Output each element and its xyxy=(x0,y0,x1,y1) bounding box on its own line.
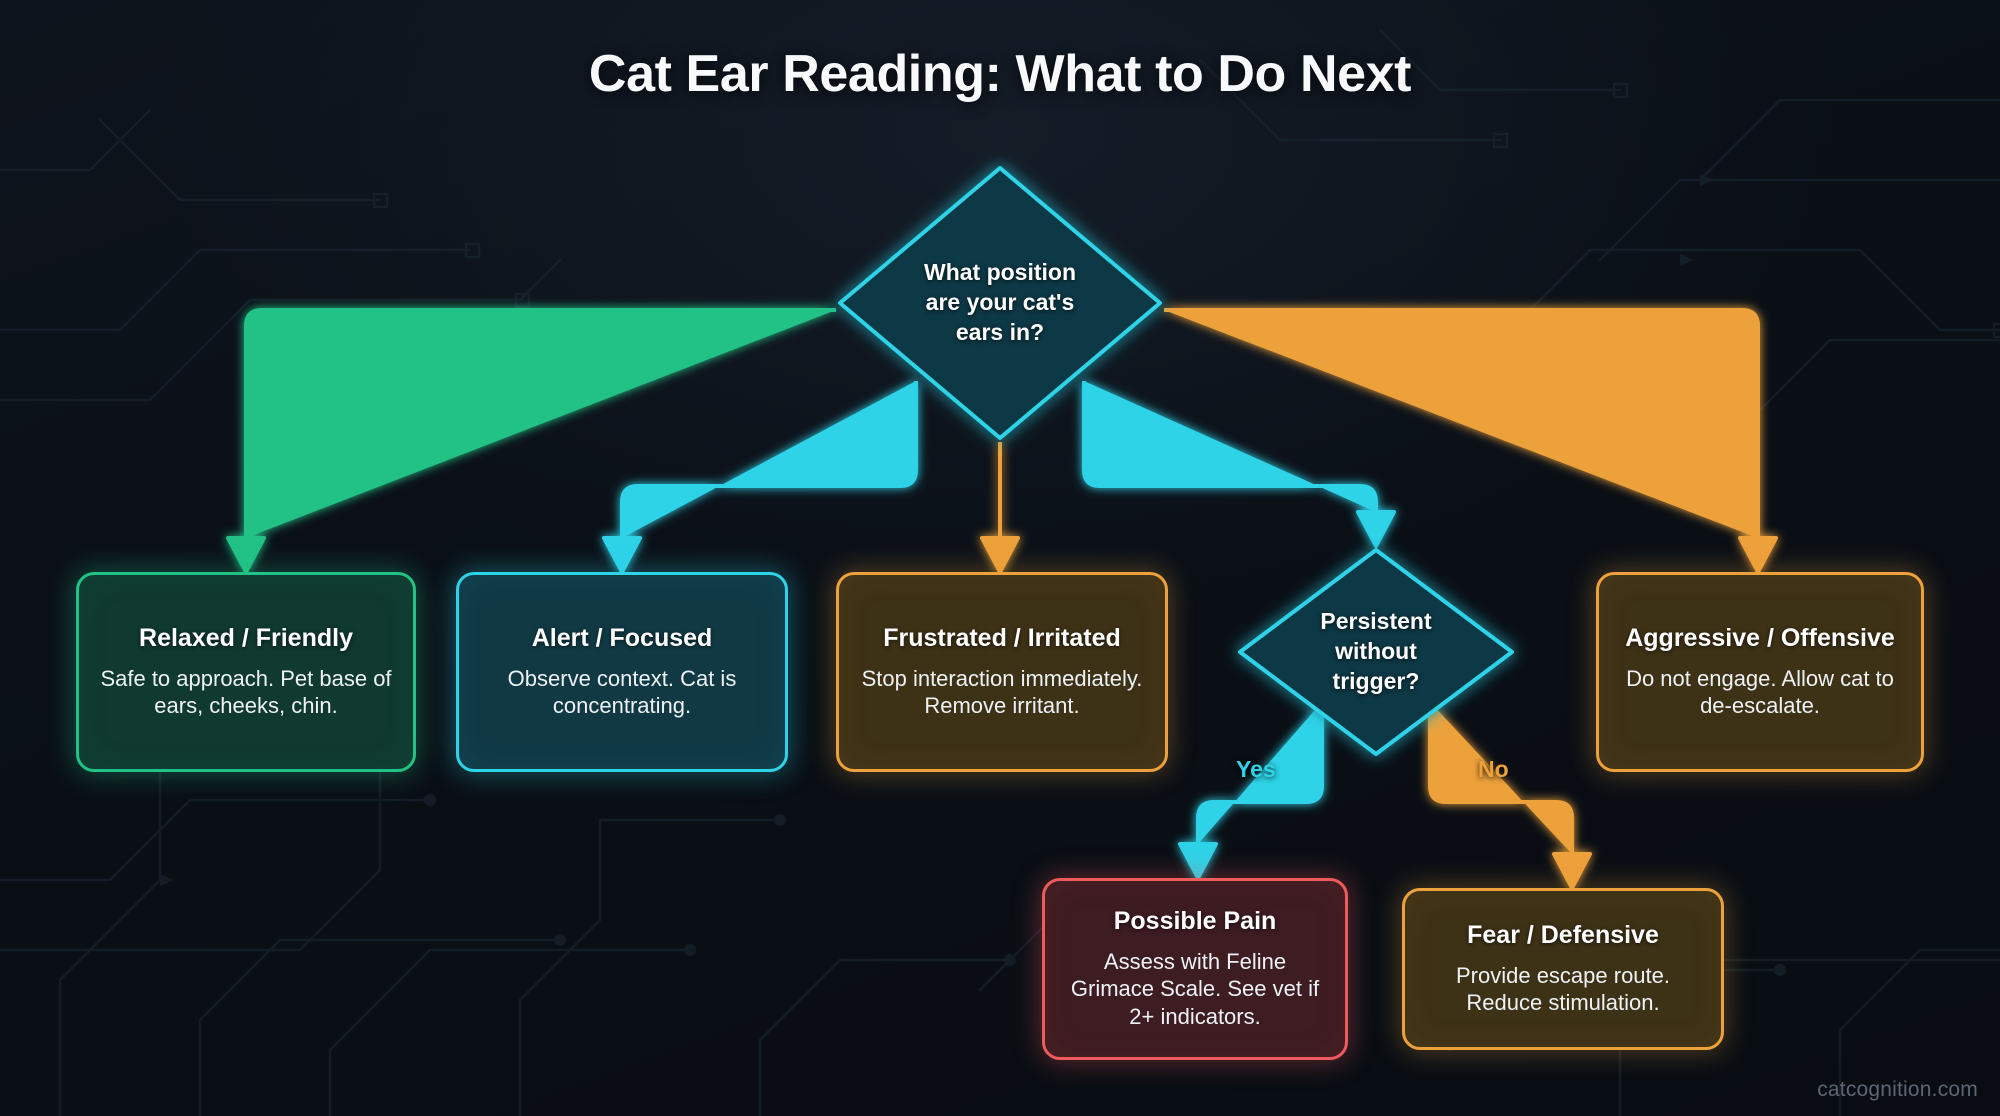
node-aggressive-offensive-title: Aggressive / Offensive xyxy=(1625,624,1895,653)
node-aggressive-offensive-description: Do not engage. Allow cat to de-escalate. xyxy=(1617,665,1903,720)
node-possible-pain-description: Assess with Feline Grimace Scale. See ve… xyxy=(1063,948,1327,1031)
node-frustrated-irritated-description: Stop interaction immediately. Remove irr… xyxy=(857,665,1147,720)
node-possible-pain[interactable]: Possible Pain Assess with Feline Grimace… xyxy=(1042,878,1348,1060)
node-alert-focused-description: Observe context. Cat is concentrating. xyxy=(477,665,767,720)
node-relaxed-friendly[interactable]: Relaxed / Friendly Safe to approach. Pet… xyxy=(76,572,416,772)
edge-root-to-relaxed xyxy=(228,310,836,572)
node-persistent-decision-label: Persistent without trigger? xyxy=(1236,546,1516,758)
node-relaxed-friendly-description: Safe to approach. Pet base of ears, chee… xyxy=(97,665,395,720)
node-frustrated-irritated[interactable]: Frustrated / Irritated Stop interaction … xyxy=(836,572,1168,772)
node-fear-defensive-description: Provide escape route. Reduce stimulation… xyxy=(1423,962,1703,1017)
edge-label-yes: Yes xyxy=(1236,756,1276,783)
node-fear-defensive-title: Fear / Defensive xyxy=(1467,921,1659,950)
node-possible-pain-title: Possible Pain xyxy=(1114,907,1277,936)
node-root-decision[interactable]: What position are your cat's ears in? xyxy=(836,164,1164,442)
node-frustrated-irritated-title: Frustrated / Irritated xyxy=(883,624,1121,653)
page-title: Cat Ear Reading: What to Do Next xyxy=(0,44,2000,104)
edge-label-no: No xyxy=(1478,756,1509,783)
edge-root-to-aggressive xyxy=(1164,310,1776,572)
flowchart-canvas: Cat Ear Reading: What to Do Next What po… xyxy=(0,0,2000,1116)
node-aggressive-offensive[interactable]: Aggressive / Offensive Do not engage. Al… xyxy=(1596,572,1924,772)
node-root-decision-label: What position are your cat's ears in? xyxy=(836,164,1164,442)
node-persistent-decision[interactable]: Persistent without trigger? xyxy=(1236,546,1516,758)
site-watermark: catcognition.com xyxy=(1817,1078,1978,1102)
node-relaxed-friendly-title: Relaxed / Friendly xyxy=(139,624,353,653)
node-fear-defensive[interactable]: Fear / Defensive Provide escape route. R… xyxy=(1402,888,1724,1050)
node-alert-focused-title: Alert / Focused xyxy=(532,624,713,653)
edge-root-to-frustrated xyxy=(982,442,1018,572)
node-alert-focused[interactable]: Alert / Focused Observe context. Cat is … xyxy=(456,572,788,772)
